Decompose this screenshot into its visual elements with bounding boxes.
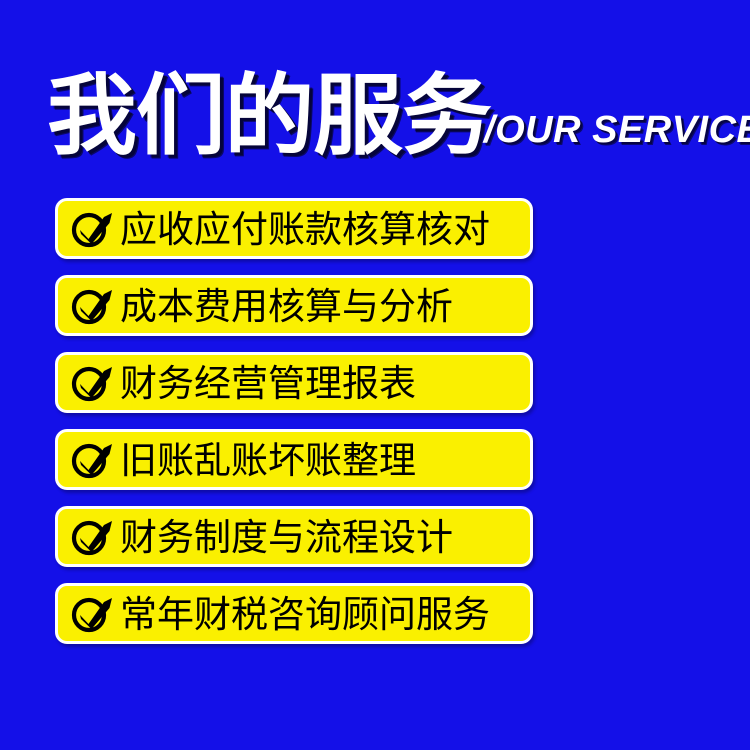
list-item[interactable]: 旧账乱账坏账整理: [55, 429, 533, 490]
page-title-en: /OUR SERVICE: [484, 109, 750, 152]
check-circle-icon: [70, 209, 114, 249]
list-item[interactable]: 应收应付账款核算核对: [55, 198, 533, 259]
list-item-label: 常年财税咨询顾问服务: [120, 596, 490, 633]
check-circle-icon: [70, 594, 114, 634]
check-circle-icon: [70, 440, 114, 480]
list-item-label: 旧账乱账坏账整理: [120, 442, 416, 479]
poster-title: 我们的服务 /OUR SERVICE: [47, 74, 750, 158]
list-item-label: 财务制度与流程设计: [120, 519, 453, 556]
check-circle-icon: [70, 286, 114, 326]
list-item-label: 应收应付账款核算核对: [120, 211, 490, 248]
list-item-label: 财务经营管理报表: [120, 365, 416, 402]
list-item[interactable]: 常年财税咨询顾问服务: [55, 583, 533, 644]
list-item[interactable]: 财务经营管理报表: [55, 352, 533, 413]
list-item[interactable]: 财务制度与流程设计: [55, 506, 533, 567]
list-item[interactable]: 成本费用核算与分析: [55, 275, 533, 336]
check-circle-icon: [70, 363, 114, 403]
service-poster: 我们的服务 /OUR SERVICE 应收应付账款核算核对 成本费用核算与分析 …: [0, 0, 750, 750]
page-title-cn: 我们的服务: [47, 74, 491, 158]
service-list: 应收应付账款核算核对 成本费用核算与分析 财务经营管理报表 旧账乱账坏账整理: [55, 198, 533, 644]
list-item-label: 成本费用核算与分析: [120, 288, 453, 325]
check-circle-icon: [70, 517, 114, 557]
